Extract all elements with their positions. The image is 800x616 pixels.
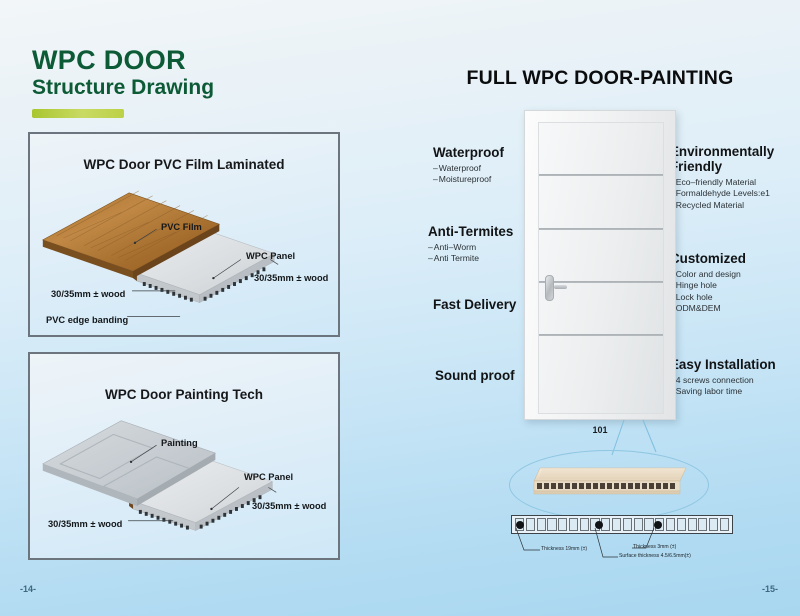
list-item: Moistureproof (433, 174, 528, 185)
left-page: WPC DOOR Structure Drawing WPC Door PVC … (0, 0, 400, 616)
cell (569, 518, 578, 531)
list-item: 4 screws connection (670, 375, 800, 386)
list-item: Eco–friendly Material (670, 177, 795, 188)
slide-page: WPC DOOR Structure Drawing WPC Door PVC … (0, 0, 800, 616)
feature-easy-installation-list: 4 screws connection Saving labor time (670, 375, 800, 398)
label-painting: Painting (161, 438, 198, 448)
door-groove (539, 334, 663, 336)
annotation-surface-thickness: Surface thickness 4.5/6.5mm(±) (619, 553, 691, 559)
cell (526, 518, 535, 531)
door-handle-icon (545, 275, 554, 301)
page-title: WPC DOOR (32, 45, 186, 76)
door-frame (524, 110, 676, 420)
panel-painting-tech: WPC Door Painting Tech (28, 352, 340, 560)
accent-bar (32, 109, 124, 118)
cell (644, 518, 653, 531)
list-item: Anti–Worm (428, 242, 533, 253)
right-page-title: FULL WPC DOOR-PAINTING (400, 67, 800, 90)
cell (612, 518, 621, 531)
feature-customized: Customized Color and design Hinge hole L… (670, 251, 795, 315)
list-item: ODM&DEM (670, 303, 795, 314)
cell (558, 518, 567, 531)
page-subtitle: Structure Drawing (32, 76, 214, 100)
feature-sound-proof: Sound proof (435, 368, 535, 383)
feature-waterproof-list: Waterproof Moistureproof (433, 163, 528, 186)
feature-anti-termites: Anti-Termites Anti–Worm Anti Termite (428, 224, 533, 265)
feature-fast-delivery: Fast Delivery (433, 297, 533, 312)
pvc-film-laminated-diagram (30, 134, 338, 335)
label-pvc-film: PVC Film (161, 222, 202, 232)
wpc-board-3d (528, 466, 692, 500)
dim-dot-19mm (516, 521, 524, 529)
cross-section-strip (511, 515, 733, 537)
cell (720, 518, 729, 531)
label-wood-right-2: 30/35mm ± wood (252, 501, 326, 511)
dim-dot-3mm (654, 521, 662, 529)
label-wood-right: 30/35mm ± wood (254, 273, 328, 283)
cross-section-cells (511, 515, 733, 534)
list-item: Anti Termite (428, 253, 533, 264)
feature-environmentally-friendly: Environmentally Friendly Eco–friendly Ma… (670, 144, 795, 211)
cell (623, 518, 632, 531)
label-pvc-edge-banding: PVC edge banding (46, 315, 128, 325)
cell (547, 518, 556, 531)
list-item: Color and design (670, 269, 795, 280)
list-item: Saving labor time (670, 386, 800, 397)
feature-easy-installation-heading: Easy Installation (670, 357, 800, 372)
feature-anti-termites-list: Anti–Worm Anti Termite (428, 242, 533, 265)
door-groove (539, 174, 663, 176)
list-item: Waterproof (433, 163, 528, 174)
cell (580, 518, 589, 531)
feature-environmentally-friendly-list: Eco–friendly Material Formaldehyde Level… (670, 177, 795, 211)
annotation-thickness-3mm: Thickness 3mm (±) (633, 544, 676, 550)
label-wood-left-2: 30/35mm ± wood (48, 519, 122, 529)
cell (677, 518, 686, 531)
list-item: Recycled Material (670, 200, 795, 211)
label-wpc-panel: WPC Panel (246, 251, 295, 261)
page-number-left: -14- (20, 584, 36, 594)
label-wpc-panel-2: WPC Panel (244, 472, 293, 482)
cell (698, 518, 707, 531)
cell (537, 518, 546, 531)
list-item: Hinge hole (670, 280, 795, 291)
door-groove (539, 228, 663, 230)
feature-easy-installation: Easy Installation 4 screws connection Sa… (670, 357, 800, 398)
page-number-right: -15- (762, 584, 778, 594)
cell (709, 518, 718, 531)
annotation-thickness-19mm: Thickness 19mm (±) (541, 546, 587, 552)
feature-fast-delivery-heading: Fast Delivery (433, 297, 533, 312)
feature-anti-termites-heading: Anti-Termites (428, 224, 533, 239)
door-groove (539, 281, 663, 283)
label-wood-left: 30/35mm ± wood (51, 289, 125, 299)
door-illustration: 101 (524, 110, 676, 420)
door-leaf (538, 122, 664, 414)
panel-pvc-film-laminated: WPC Door PVC Film Laminated (28, 132, 340, 337)
door-model-code: 101 (524, 425, 676, 435)
cell (688, 518, 697, 531)
cell (666, 518, 675, 531)
dim-dot-surface (595, 521, 603, 529)
feature-customized-heading: Customized (670, 251, 795, 266)
feature-sound-proof-heading: Sound proof (435, 368, 535, 383)
list-item: Formaldehyde Levels:e1 (670, 188, 795, 199)
feature-waterproof-heading: Waterproof (433, 145, 528, 160)
feature-customized-list: Color and design Hinge hole Lock hole OD… (670, 269, 795, 315)
right-page: FULL WPC DOOR-PAINTING Waterproof Waterp… (400, 0, 800, 616)
feature-environmentally-friendly-heading: Environmentally Friendly (670, 144, 795, 174)
list-item: Lock hole (670, 292, 795, 303)
feature-waterproof: Waterproof Waterproof Moistureproof (433, 145, 528, 186)
cell (634, 518, 643, 531)
